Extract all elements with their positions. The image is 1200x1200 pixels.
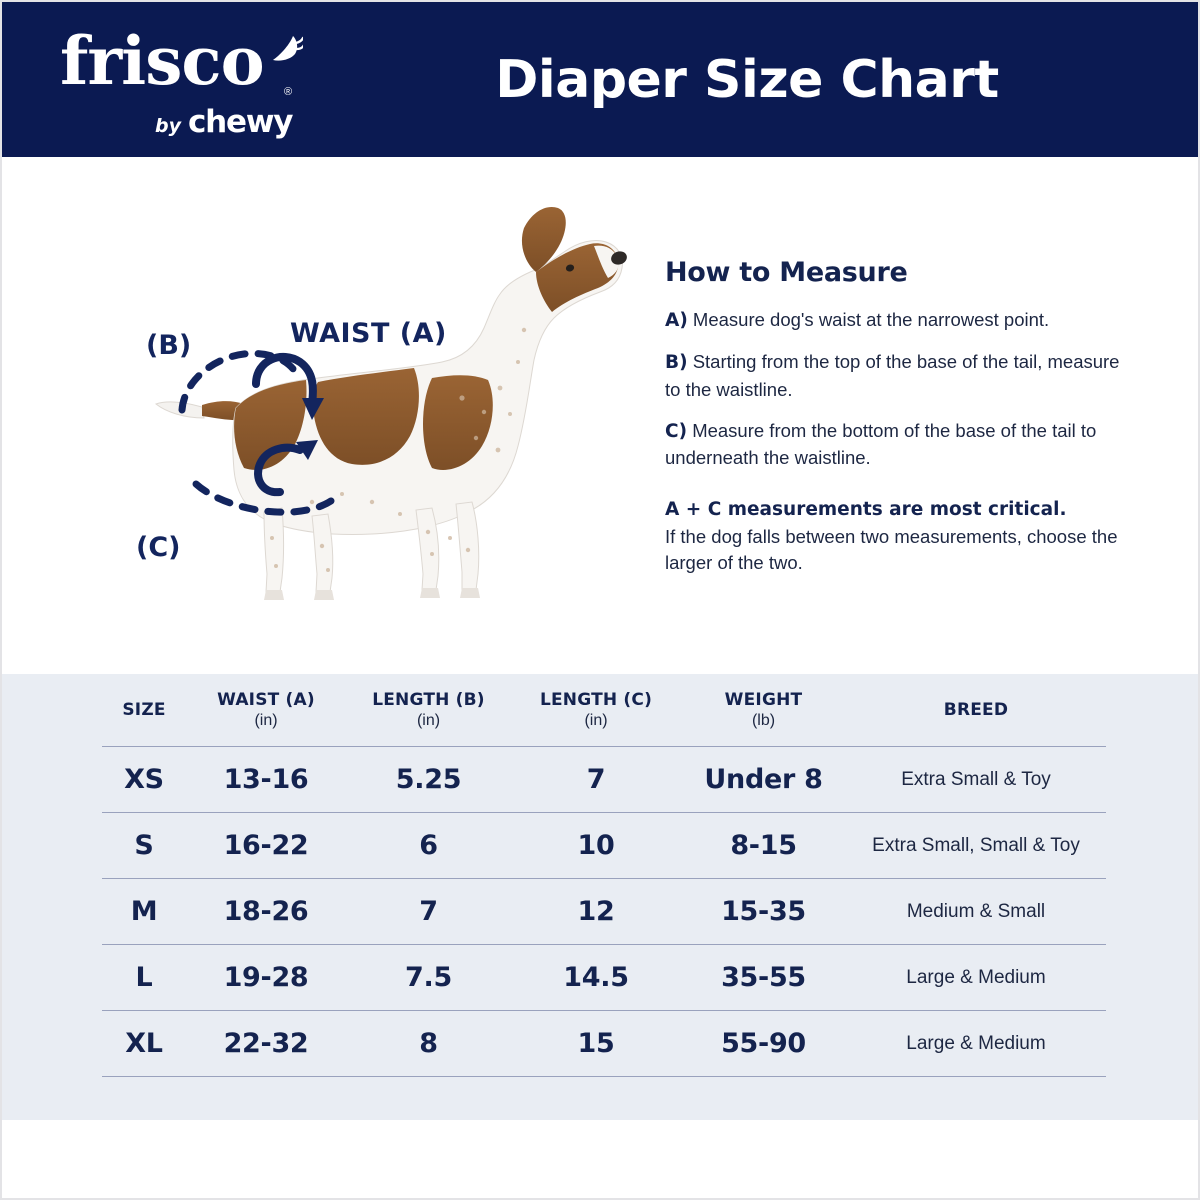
cell-length-c: 12 [511, 879, 681, 945]
label-b: (B) [146, 330, 191, 361]
column-header-length-c-unit: (in) [511, 712, 681, 730]
dog-ear-flourish-icon [269, 30, 303, 64]
measure-step-c-marker: C) [665, 421, 687, 442]
column-header-waist: WAIST (A) (in) [186, 674, 346, 747]
measure-step-b: B) Starting from the top of the base of … [665, 349, 1125, 403]
measure-critical-note-rest: If the dog falls between two measurement… [665, 526, 1117, 573]
cell-length-c: 14.5 [511, 945, 681, 1011]
measure-step-c-text: Measure from the bottom of the base of t… [665, 420, 1096, 468]
cell-length-b: 8 [346, 1011, 511, 1077]
size-table-panel: SIZE WAIST (A) (in) LENGTH (B) (in) LENG… [2, 674, 1198, 1120]
cell-waist: 19-28 [186, 945, 346, 1011]
cell-breed: Extra Small & Toy [846, 747, 1106, 813]
cell-length-b: 6 [346, 813, 511, 879]
column-header-weight: WEIGHT (lb) [681, 674, 846, 747]
cell-waist: 22-32 [186, 1011, 346, 1077]
cell-weight: 35-55 [681, 945, 846, 1011]
column-header-length-b-label: LENGTH (B) [372, 690, 485, 710]
column-header-weight-label: WEIGHT [725, 690, 803, 710]
cell-length-c: 10 [511, 813, 681, 879]
size-chart-page: frisco ® by chewy Diaper Size Chart [0, 0, 1200, 1200]
cell-waist: 13-16 [186, 747, 346, 813]
label-c: (C) [136, 532, 181, 563]
measure-step-a-marker: A) [665, 310, 688, 331]
header-band: frisco ® by chewy Diaper Size Chart [2, 2, 1198, 157]
cell-weight: 15-35 [681, 879, 846, 945]
column-header-size-label: SIZE [122, 700, 165, 720]
diagram-area: (B) WAIST (A) (C) How to Measure A) Meas… [2, 157, 1198, 674]
logo-chewy-text: chewy [188, 104, 292, 140]
frisco-by-chewy-logo: frisco ® by chewy [57, 24, 302, 134]
measure-critical-note-strong: A + C measurements are most critical. [665, 497, 1125, 523]
registered-trademark-icon: ® [284, 86, 292, 98]
label-waist-a: WAIST (A) [290, 318, 447, 349]
cell-length-b: 7 [346, 879, 511, 945]
cell-length-b: 5.25 [346, 747, 511, 813]
footer-spacer [2, 1120, 1198, 1198]
dog-measurement-illustration: (B) WAIST (A) (C) [132, 202, 652, 612]
cell-length-c: 15 [511, 1011, 681, 1077]
how-to-measure-title: How to Measure [665, 257, 1125, 288]
measure-critical-note: A + C measurements are most critical. If… [665, 497, 1125, 576]
how-to-measure-panel: How to Measure A) Measure dog's waist at… [665, 257, 1125, 576]
column-header-length-c-label: LENGTH (C) [540, 690, 652, 710]
logo-subline: by chewy [155, 104, 292, 140]
column-header-length-b-unit: (in) [346, 712, 511, 730]
dog-photo-silhouette [156, 207, 629, 600]
cell-breed: Large & Medium [846, 1011, 1106, 1077]
measure-step-a-text: Measure dog's waist at the narrowest poi… [693, 309, 1049, 330]
column-header-breed: BREED [846, 674, 1106, 747]
cell-weight: Under 8 [681, 747, 846, 813]
cell-weight: 55-90 [681, 1011, 846, 1077]
cell-size: XL [102, 1011, 186, 1077]
cell-size: M [102, 879, 186, 945]
table-row: M 18-26 7 12 15-35 Medium & Small [102, 879, 1106, 945]
table-row: S 16-22 6 10 8-15 Extra Small, Small & T… [102, 813, 1106, 879]
page-title: Diaper Size Chart [332, 2, 1192, 157]
size-table-head: SIZE WAIST (A) (in) LENGTH (B) (in) LENG… [102, 674, 1106, 747]
column-header-waist-label: WAIST (A) [217, 690, 315, 710]
size-table-body: XS 13-16 5.25 7 Under 8 Extra Small & To… [102, 747, 1106, 1077]
column-header-waist-unit: (in) [186, 712, 346, 730]
table-row: XS 13-16 5.25 7 Under 8 Extra Small & To… [102, 747, 1106, 813]
measure-step-b-marker: B) [665, 352, 688, 373]
table-row: L 19-28 7.5 14.5 35-55 Large & Medium [102, 945, 1106, 1011]
table-header-row: SIZE WAIST (A) (in) LENGTH (B) (in) LENG… [102, 674, 1106, 747]
column-header-weight-unit: (lb) [681, 712, 846, 730]
cell-size: S [102, 813, 186, 879]
cell-length-b: 7.5 [346, 945, 511, 1011]
measure-step-c: C) Measure from the bottom of the base o… [665, 418, 1125, 472]
column-header-breed-label: BREED [944, 700, 1008, 720]
cell-size: XS [102, 747, 186, 813]
cell-waist: 16-22 [186, 813, 346, 879]
cell-waist: 18-26 [186, 879, 346, 945]
logo-by-text: by [155, 115, 181, 137]
cell-breed: Extra Small, Small & Toy [846, 813, 1106, 879]
cell-breed: Medium & Small [846, 879, 1106, 945]
size-table: SIZE WAIST (A) (in) LENGTH (B) (in) LENG… [102, 674, 1106, 1077]
column-header-length-c: LENGTH (C) (in) [511, 674, 681, 747]
column-header-size: SIZE [102, 674, 186, 747]
frisco-wordmark: frisco [60, 28, 264, 94]
cell-size: L [102, 945, 186, 1011]
measure-step-a: A) Measure dog's waist at the narrowest … [665, 307, 1125, 334]
measure-step-b-text: Starting from the top of the base of the… [665, 351, 1119, 399]
table-row: XL 22-32 8 15 55-90 Large & Medium [102, 1011, 1106, 1077]
cell-weight: 8-15 [681, 813, 846, 879]
cell-length-c: 7 [511, 747, 681, 813]
cell-breed: Large & Medium [846, 945, 1106, 1011]
column-header-length-b: LENGTH (B) (in) [346, 674, 511, 747]
